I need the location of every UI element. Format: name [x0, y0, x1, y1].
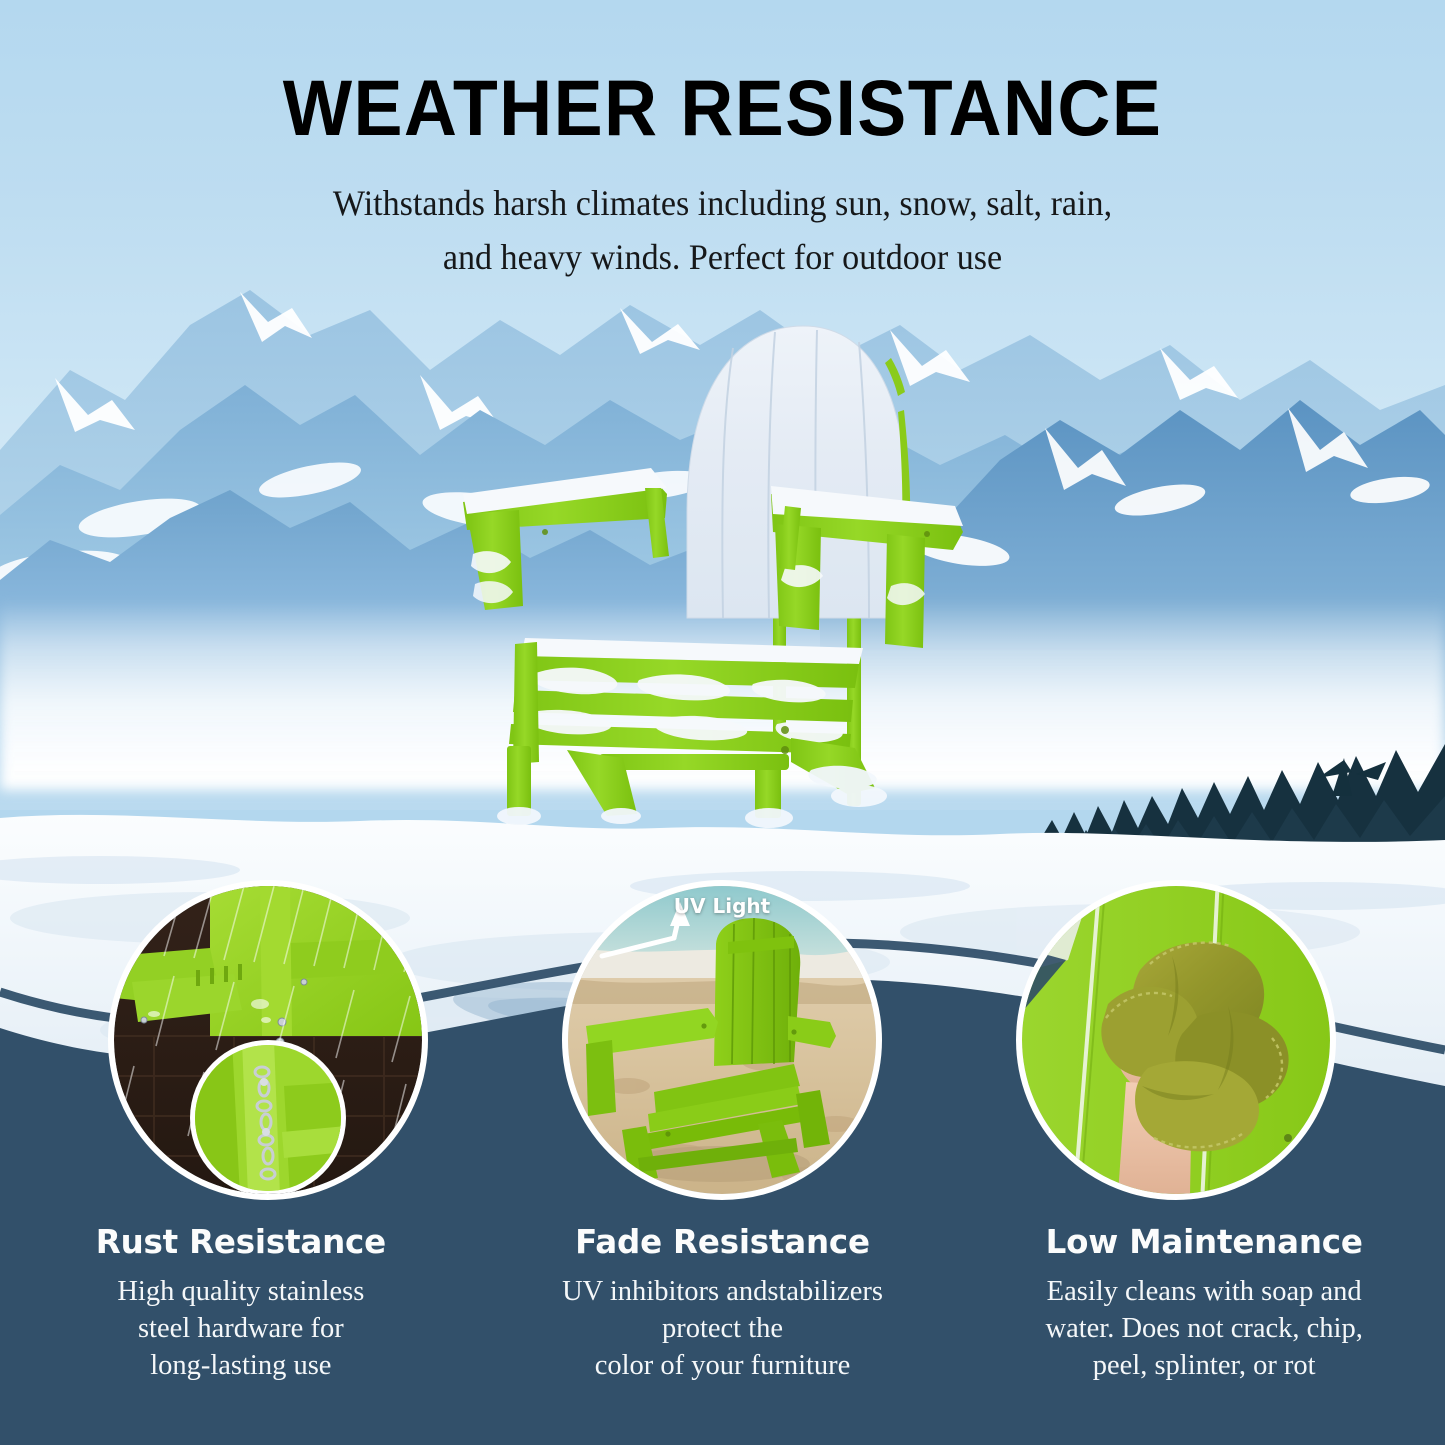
subtitle-line-2: and heavy winds. Perfect for outdoor use	[443, 237, 1002, 277]
feature-text-fade-resistance: Fade Resistance UV inhibitors andstabili…	[482, 1225, 964, 1425]
low-maintenance-image	[1016, 880, 1336, 1200]
features-text-row: Rust Resistance High quality stainless s…	[0, 1225, 1445, 1425]
feature-desc-fade-resistance: UV inhibitors andstabilizers protect the…	[500, 1261, 946, 1384]
feature-desc-line-1: UV inhibitors andstabilizers	[562, 1276, 883, 1307]
feature-title-fade-resistance: Fade Resistance	[500, 1225, 946, 1261]
feature-circle-low-maintenance[interactable]	[1016, 880, 1336, 1200]
page-subtitle: Withstands harsh climates including sun,…	[29, 147, 1416, 285]
page-title: WEATHER RESISTANCE	[51, 0, 1395, 147]
fade-resistance-image	[562, 880, 882, 1200]
hero-chair-image	[455, 318, 975, 838]
feature-desc-line-1: Easily cleans with soap and	[1047, 1276, 1362, 1307]
feature-desc-line-3: long-lasting use	[150, 1350, 331, 1381]
feature-text-rust-resistance: Rust Resistance High quality stainless s…	[0, 1225, 482, 1425]
weather-resistance-infographic: WEATHER RESISTANCE Withstands harsh clim…	[0, 0, 1445, 1445]
feature-desc-line-2: protect the	[662, 1313, 783, 1344]
feature-desc-low-maintenance: Easily cleans with soap and water. Does …	[981, 1261, 1427, 1384]
subtitle-line-1: Withstands harsh climates including sun,…	[333, 183, 1112, 223]
feature-title-rust-resistance: Rust Resistance	[18, 1225, 464, 1261]
header-block: WEATHER RESISTANCE Withstands harsh clim…	[0, 0, 1445, 285]
feature-desc-line-1: High quality stainless	[117, 1276, 364, 1307]
feature-title-low-maintenance: Low Maintenance	[981, 1225, 1427, 1261]
feature-desc-line-2: steel hardware for	[138, 1313, 344, 1344]
feature-desc-line-3: color of your furniture	[595, 1350, 851, 1381]
feature-desc-line-3: peel, splinter, or rot	[1093, 1350, 1316, 1381]
feature-circle-fade-resistance[interactable]: UV Light	[562, 880, 882, 1200]
feature-text-low-maintenance: Low Maintenance Easily cleans with soap …	[963, 1225, 1445, 1425]
feature-desc-line-2: water. Does not crack, chip,	[1046, 1313, 1363, 1344]
rust-resistance-image	[108, 880, 428, 1200]
feature-circle-rust-resistance[interactable]	[108, 880, 428, 1200]
feature-desc-rust-resistance: High quality stainless steel hardware fo…	[18, 1261, 464, 1384]
